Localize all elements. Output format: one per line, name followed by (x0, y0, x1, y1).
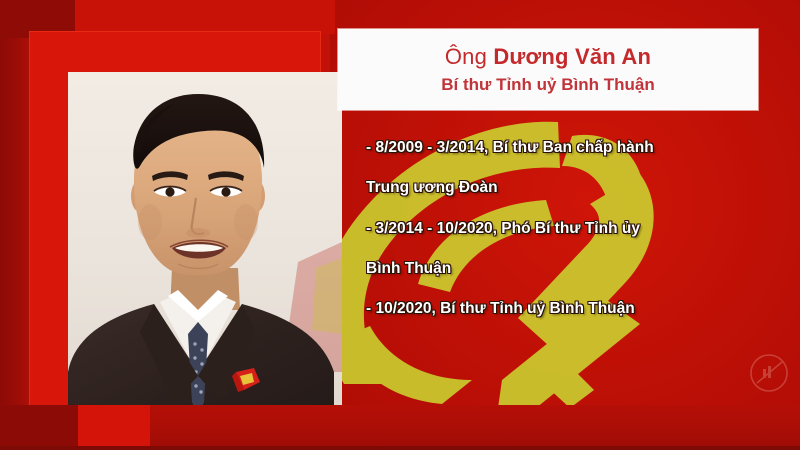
name-text: Dương Văn An (493, 44, 651, 69)
person-name: Ông Dương Văn An (445, 45, 651, 69)
biography-line: Bình Thuận (366, 261, 766, 277)
background-bottom-left-dark (0, 405, 78, 450)
biography-line: - 3/2014 - 10/2020, Phó Bí thư Tỉnh ủy (366, 221, 766, 237)
background-top-sliver (75, 0, 335, 34)
biography-line: - 8/2009 - 3/2014, Bí thư Ban chấp hành (366, 140, 766, 156)
title-card: Ông Dương Văn An Bí thư Tỉnh uỷ Bình Thu… (338, 29, 758, 110)
portrait-photo (68, 72, 342, 434)
portrait-frame (30, 32, 320, 410)
circular-logo-watermark-icon (748, 352, 790, 394)
person-position: Bí thư Tỉnh uỷ Bình Thuận (441, 76, 654, 95)
biography-line: Trung ương Đoàn (366, 180, 766, 196)
background-left-dark-band (0, 0, 34, 450)
biography-list: - 8/2009 - 3/2014, Bí thư Ban chấp hành … (366, 140, 766, 317)
name-prefix: Ông (445, 44, 494, 69)
background-bottom-left-bright (78, 405, 150, 450)
infographic-slide: Ông Dương Văn An Bí thư Tỉnh uỷ Bình Thu… (0, 0, 800, 450)
background-bottom-hairline (0, 446, 800, 450)
biography-line: - 10/2020, Bí thư Tỉnh uỷ Bình Thuận (366, 301, 766, 317)
